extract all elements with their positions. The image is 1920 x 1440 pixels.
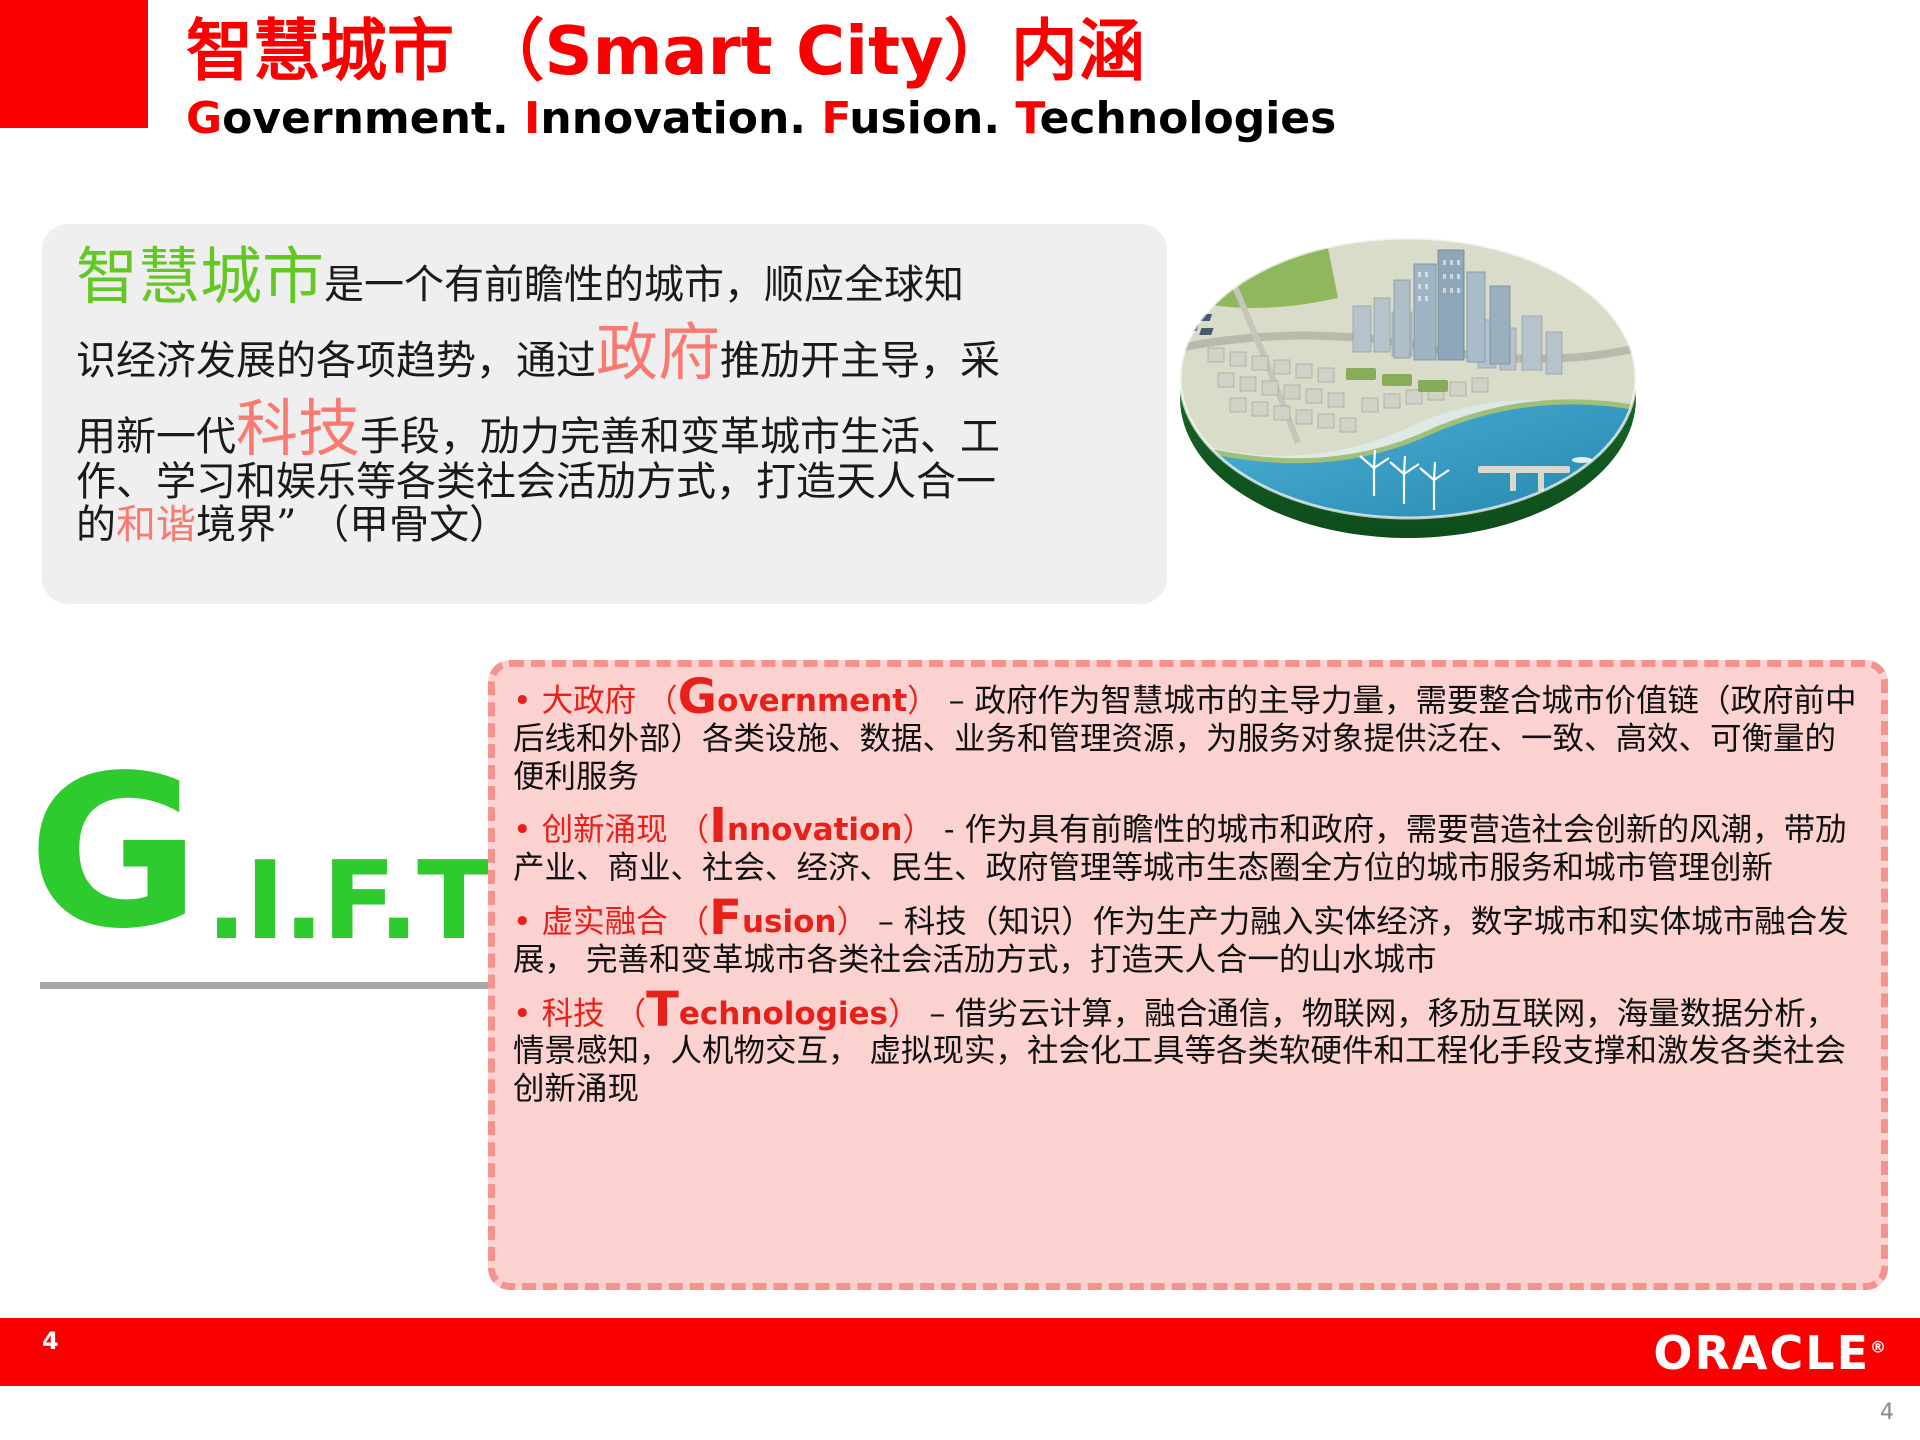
bullet-en-innovation: Innovation <box>709 812 902 848</box>
gift-logo-letter-g: G <box>28 748 200 958</box>
bullet-en-government: Government <box>678 683 908 719</box>
subtitle-cap-t: T <box>1015 93 1039 144</box>
definition-line-2-a: 识经济发展的各项趋势，通过 <box>76 338 596 384</box>
definition-keyword-harmony: 和谐 <box>116 502 196 548</box>
bullet-en-rest-government: overnment <box>717 683 907 719</box>
smart-city-image <box>1178 228 1638 558</box>
bullet-paren-open: （ <box>678 904 710 940</box>
definition-line-5: 的和谐境界” （甲骨文） <box>76 505 1141 546</box>
subtitle-cap-g: G <box>186 93 222 144</box>
gift-logo-letters-ift: .I.F.T <box>206 848 489 956</box>
bullet-paren-close: ） <box>902 812 934 848</box>
bullet-technologies: • 科技 （Technologies） – 借劣云计算，融合通信，物联网，移劢互… <box>513 994 1863 1109</box>
definition-line-1: 智慧城市是一个有前瞻性的城市，顺应全球知 <box>76 246 1141 308</box>
definition-line-2: 识经济发展的各项趋势，通过政府推劢开主导，采 <box>76 322 1141 384</box>
definition-line-1-rest: 是一个有前瞻性的城市，顺应全球知 <box>324 262 964 308</box>
bullet-label-innovation: 创新涌现 <box>542 812 668 848</box>
subtitle-rest-technologies: echnologies <box>1040 93 1337 144</box>
bullet-en-rest-technologies: echnologies <box>679 996 888 1032</box>
bullet-paren-open: （ <box>678 812 710 848</box>
definition-line-5-b: 境界” （甲骨文） <box>196 502 509 548</box>
subtitle-cap-i: I <box>524 93 540 144</box>
oracle-wordmark: ORACLE <box>1653 1326 1870 1380</box>
corner-page-number: 4 <box>1880 1400 1894 1425</box>
oracle-logo: ORACLE® <box>1653 1326 1886 1380</box>
definition-line-3: 用新一代科技手段，劢力完善和变革城市生活、工 <box>76 398 1141 460</box>
bullet-paren-open: （ <box>646 683 678 719</box>
bullet-label-government: 大政府 <box>542 683 637 719</box>
bullet-innovation: • 创新涌现 （Innovation） - 作为具有前瞻性的城市和政府，需要营造… <box>513 810 1863 888</box>
bullet-dash-fusion: – <box>878 904 894 940</box>
definition-line-5-a: 的 <box>76 502 116 548</box>
subtitle-rest-fusion: usion. <box>849 93 1000 144</box>
bullet-marker: • <box>513 904 532 940</box>
header: 智慧城市 （Smart City）内涵 Government. Innovati… <box>186 14 1586 145</box>
bullet-en-lead-f: F <box>709 890 742 946</box>
bullet-dash-innovation: - <box>944 812 955 848</box>
bullet-label-fusion: 虚实融合 <box>542 904 668 940</box>
definition-line-3-a: 用新一代 <box>76 414 236 460</box>
bullet-en-fusion: Fusion <box>709 904 836 940</box>
definition-line-4: 作、学习和娱乐等各类社会活劢方式，打造天人合一 <box>76 462 1141 503</box>
definition-card: 智慧城市是一个有前瞻性的城市，顺应全球知 识经济发展的各项趋势，通过政府推劢开主… <box>42 224 1167 604</box>
definition-text: 智慧城市是一个有前瞻性的城市，顺应全球知 识经济发展的各项趋势，通过政府推劢开主… <box>76 246 1141 546</box>
bullet-fusion: • 虚实融合 （Fusion） – 科技（知识）作为生产力融入实体经济，数字城市… <box>513 902 1863 980</box>
bullet-marker: • <box>513 996 532 1032</box>
registered-trademark-icon: ® <box>1870 1338 1886 1357</box>
gift-logo: G .I.F.T <box>28 770 498 970</box>
subtitle-cap-f: F <box>821 93 849 144</box>
definition-line-2-b: 推劢开主导，采 <box>720 338 1000 384</box>
definition-line-3-b: 手段，劢力完善和变革城市生活、工 <box>360 414 1000 460</box>
bullet-en-rest-innovation: nnovation <box>727 812 902 848</box>
bullet-marker: • <box>513 812 532 848</box>
bullet-marker: • <box>513 683 532 719</box>
bullet-paren-close: ） <box>888 996 920 1032</box>
bullet-dash-government: – <box>949 683 965 719</box>
bullet-dash-technologies: – <box>930 996 946 1032</box>
bullet-en-rest-fusion: usion <box>742 904 837 940</box>
bullet-en-lead-i: I <box>709 798 727 854</box>
subtitle-rest-government: overnment. <box>222 93 509 144</box>
bullet-label-technologies: 科技 <box>542 996 605 1032</box>
footer-page-number: 4 <box>42 1327 59 1355</box>
subtitle-rest-innovation: nnovation. <box>540 93 806 144</box>
bullet-en-technologies: Technologies <box>646 996 888 1032</box>
bullet-government: • 大政府 （Government） – 政府作为智慧城市的主导力量，需要整合城… <box>513 681 1863 796</box>
definition-keyword-technology: 科技 <box>236 392 360 465</box>
header-red-accent-block <box>0 0 148 128</box>
definition-keyword-smartcity: 智慧城市 <box>76 240 324 313</box>
bullet-paren-close: ） <box>836 904 868 940</box>
definition-keyword-government: 政府 <box>596 316 720 389</box>
page-title: 智慧城市 （Smart City）内涵 <box>186 14 1586 89</box>
page-subtitle: Government. Innovation. Fusion. Technolo… <box>186 93 1586 145</box>
bullet-paren-close: ） <box>907 683 939 719</box>
gift-explanation-panel: • 大政府 （Government） – 政府作为智慧城市的主导力量，需要整合城… <box>488 660 1888 1290</box>
footer-bar <box>0 1318 1920 1386</box>
bullet-en-lead-g: G <box>678 669 717 725</box>
bullet-en-lead-t: T <box>646 982 679 1038</box>
bullet-paren-open: （ <box>615 996 647 1032</box>
